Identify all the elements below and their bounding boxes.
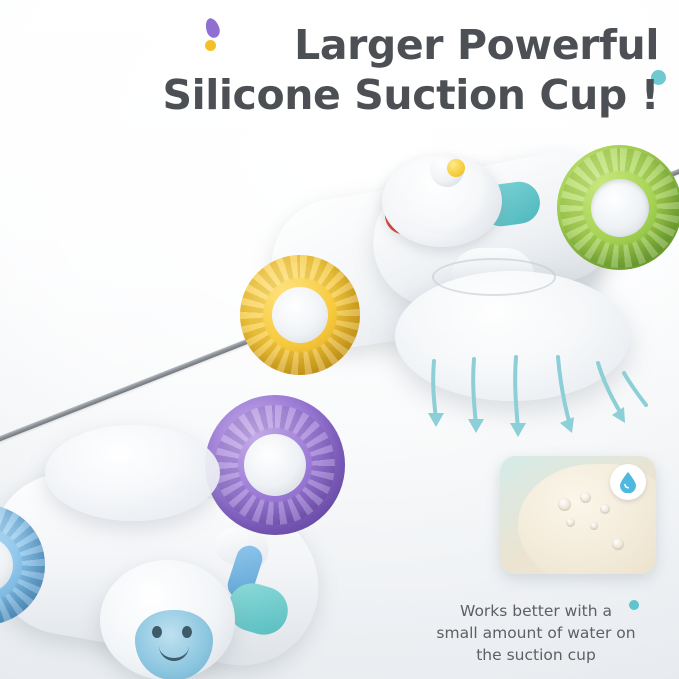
toy-upper-knob-yellow: [447, 159, 465, 177]
headline-line-1: Larger Powerful: [0, 20, 665, 70]
suction-cup-ring: [432, 258, 556, 296]
toy-lower-face: [135, 610, 213, 679]
green-wheel-hub: [591, 179, 649, 237]
water-bubble: [558, 498, 571, 511]
toy-lower: [0, 395, 390, 679]
water-drop-badge: [610, 464, 646, 500]
face-mouth-icon: [159, 644, 189, 661]
face-eye-right-icon: [182, 626, 192, 638]
caption-line-3: the suction cup: [400, 644, 672, 666]
water-drop-icon: [618, 471, 638, 493]
water-bubble: [566, 518, 575, 527]
green-wheel: [557, 145, 679, 270]
headline: Larger Powerful Silicone Suction Cup !: [0, 20, 665, 120]
caption: Works better with a small amount of wate…: [400, 600, 672, 666]
suction-arrows-icon: [418, 355, 648, 450]
lower-suction-cup: [45, 425, 220, 521]
water-tip-inset: [500, 456, 656, 574]
water-bubble: [590, 522, 598, 530]
yellow-wheel-hub: [272, 287, 328, 343]
caption-line-1: Works better with a: [400, 600, 672, 622]
water-bubble: [580, 492, 591, 503]
headline-line-2: Silicone Suction Cup !: [0, 70, 665, 120]
product-infographic: Larger Powerful Silicone Suction Cup !: [0, 0, 679, 679]
water-bubble: [612, 538, 624, 550]
purple-wheel-hub: [244, 434, 306, 496]
caption-line-2: small amount of water on: [400, 622, 672, 644]
yellow-wheel: [240, 255, 360, 375]
face-eye-left-icon: [152, 626, 162, 638]
water-bubble: [600, 504, 610, 514]
purple-wheel: [205, 395, 345, 535]
